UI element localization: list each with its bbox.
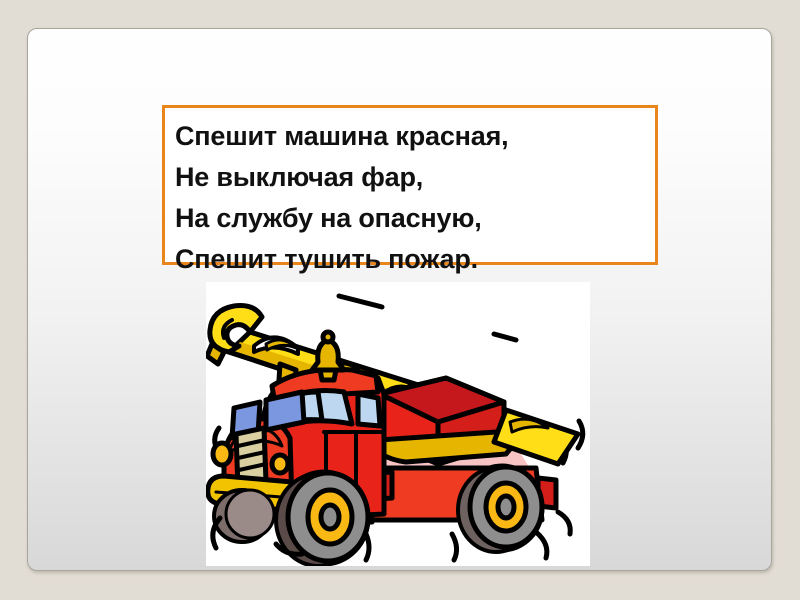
headlight-icon bbox=[272, 455, 288, 473]
poem-line-2: Не выключая фар, bbox=[173, 157, 655, 198]
fire-truck-image bbox=[206, 282, 590, 566]
slide-canvas: Спешит машина красная, Не выключая фар, … bbox=[27, 28, 772, 571]
poem-line-1: Спешит машина красная, bbox=[173, 116, 655, 157]
slide-root: Спешит машина красная, Не выключая фар, … bbox=[0, 0, 800, 600]
poem-line-3: На службу на опасную, bbox=[173, 198, 655, 239]
fire-truck-illustration bbox=[206, 282, 590, 566]
poem-line-4: Спешит тушить пожар. bbox=[173, 239, 655, 280]
headlight-icon bbox=[213, 443, 231, 465]
poem-text-box: Спешит машина красная, Не выключая фар, … bbox=[162, 105, 658, 265]
